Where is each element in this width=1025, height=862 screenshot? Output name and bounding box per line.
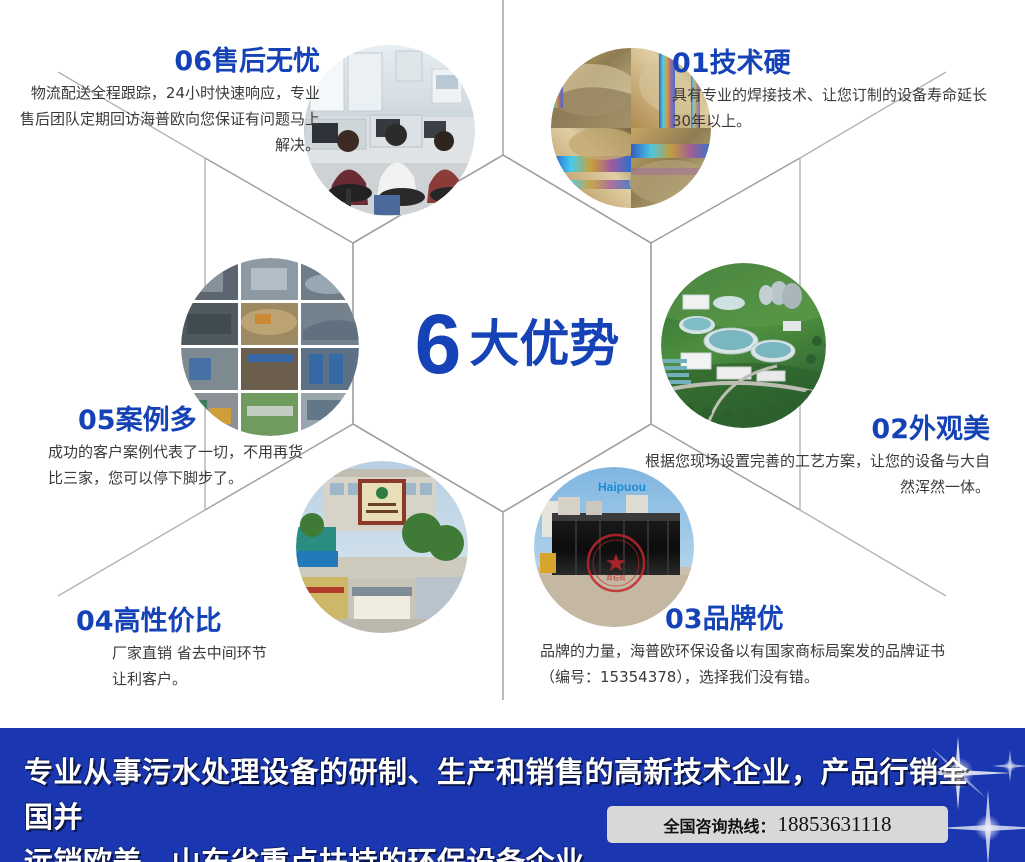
advantage-05-title: 05案例多 <box>78 405 303 436</box>
advantage-05: 05案例多 成功的客户案例代表了一切，不用再货比三家，您可以停下脚步了。 <box>48 405 303 492</box>
hotline-box[interactable]: 全国咨询热线： 18853631118 <box>607 806 948 843</box>
office-staff-photo <box>304 45 475 216</box>
infographic-root: 06售后无忧 物流配送全程跟踪，24小时快速响应，专业售后团队定期回访海普欧向您… <box>0 0 1025 862</box>
center-number: 6 <box>415 302 460 386</box>
advantage-01: 01技术硬 具有专业的焊接技术、让您订制的设备寿命延长30年以上。 <box>672 48 988 135</box>
advantage-04-title: 04高性价比 <box>76 606 396 637</box>
banner-line-2: 远销欧美，山东省重点扶持的环保设备企业。 <box>24 840 974 862</box>
advantage-02-photo <box>661 263 826 428</box>
advantage-03-body: 品牌的力量，海普欧环保设备以有国家商标局案发的品牌证书（编号：15354378）… <box>540 639 970 691</box>
svg-text:Haipuou: Haipuou <box>598 480 646 494</box>
advantage-04-body: 厂家直销 省去中间环节 让利客户。 <box>112 641 396 693</box>
advantage-06-body: 物流配送全程跟踪，24小时快速响应，专业售后团队定期回访海普欧向您保证有问题马上… <box>18 81 320 158</box>
advantage-02: 02外观美 根据您现场设置完善的工艺方案，让您的设备与大自然浑然一体。 <box>640 414 990 501</box>
advantage-03-title: 03品牌优 <box>665 604 970 635</box>
center-headline: 6 大优势 <box>392 296 642 392</box>
advantage-02-title: 02外观美 <box>640 414 990 445</box>
advantage-06: 06售后无忧 物流配送全程跟踪，24小时快速响应，专业售后团队定期回访海普欧向您… <box>18 46 320 158</box>
advantage-06-photo <box>304 45 475 216</box>
hotline-label: 全国咨询热线： <box>664 813 776 837</box>
aerial-wastewater-plant-photo <box>661 263 826 428</box>
black-equipment-tank-photo: 商标局 Haipuou <box>534 467 694 627</box>
advantage-06-title: 06售后无忧 <box>18 46 320 77</box>
advantage-01-body: 具有专业的焊接技术、让您订制的设备寿命延长30年以上。 <box>672 83 988 135</box>
advantage-01-title: 01技术硬 <box>672 48 988 79</box>
advantage-03-photo: 商标局 Haipuou <box>534 467 694 627</box>
advantage-03: 03品牌优 品牌的力量，海普欧环保设备以有国家商标局案发的品牌证书（编号：153… <box>540 604 970 691</box>
advantage-04: 04高性价比 厂家直销 省去中间环节 让利客户。 <box>76 606 396 693</box>
hotline-number: 18853631118 <box>778 812 892 837</box>
center-text: 大优势 <box>469 319 619 369</box>
advantage-05-body: 成功的客户案例代表了一切，不用再货比三家，您可以停下脚步了。 <box>48 440 303 492</box>
advantage-02-body: 根据您现场设置完善的工艺方案，让您的设备与大自然浑然一体。 <box>640 449 990 501</box>
svg-text:商标局: 商标局 <box>606 573 626 582</box>
